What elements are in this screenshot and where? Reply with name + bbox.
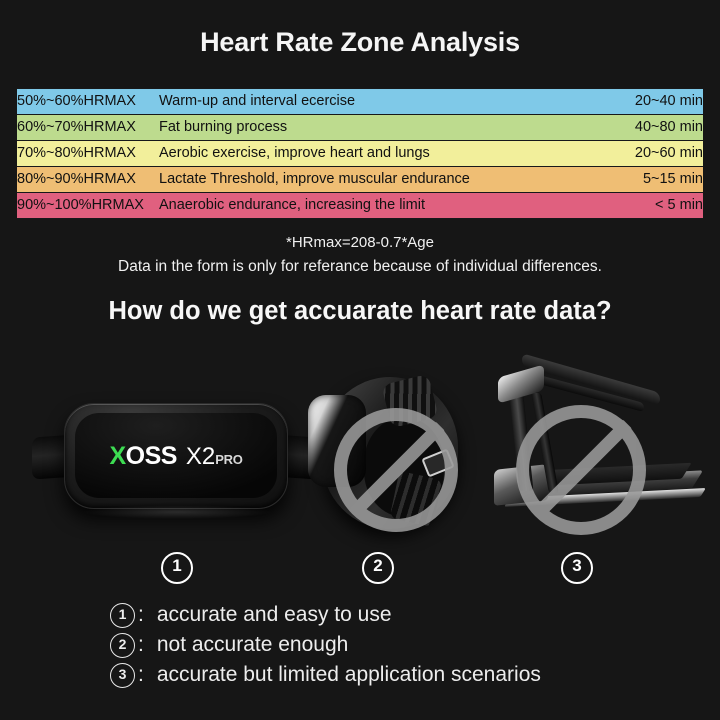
sensor-pod-shadow <box>82 505 272 519</box>
heart-rate-zone-table: 50%~60%HRMAX Warm-up and interval ecerci… <box>17 88 703 219</box>
logo-x-letter: X <box>109 442 125 471</box>
sensor-pod: XOSS X2PRO <box>64 403 288 509</box>
prohibited-icon-slash <box>530 419 631 520</box>
list-item: 3 : accurate but limited application sce… <box>110 660 670 690</box>
zone-duration: 20~60 min <box>585 141 703 167</box>
zone-range: 70%~80%HRMAX <box>17 141 159 167</box>
logo-model: X2 <box>186 443 215 471</box>
legend-list: 1 : accurate and easy to use 2 : not acc… <box>110 600 670 690</box>
zone-range: 60%~70%HRMAX <box>17 115 159 141</box>
product-marker-3: 3 <box>561 552 593 584</box>
table-row: 90%~100%HRMAX Anaerobic endurance, incre… <box>17 193 703 219</box>
zone-description: Lactate Threshold, improve muscular endu… <box>159 167 585 193</box>
zone-description: Fat burning process <box>159 115 585 141</box>
zone-range: 50%~60%HRMAX <box>17 89 159 115</box>
legend-text: accurate and easy to use <box>157 603 392 627</box>
zone-table-body: 50%~60%HRMAX Warm-up and interval ecerci… <box>17 89 703 219</box>
heart-rate-infographic: Heart Rate Zone Analysis 50%~60%HRMAX Wa… <box>0 0 720 720</box>
legend-marker-2: 2 <box>110 633 135 658</box>
page-title: Heart Rate Zone Analysis <box>0 27 720 58</box>
table-row: 50%~60%HRMAX Warm-up and interval ecerci… <box>17 89 703 115</box>
list-item: 2 : not accurate enough <box>110 630 670 660</box>
section-heading: How do we get accuarate heart rate data? <box>0 297 720 326</box>
table-row: 60%~70%HRMAX Fat burning process 40~80 m… <box>17 115 703 141</box>
zone-duration: 20~40 min <box>585 89 703 115</box>
hrmax-formula-note: *HRmax=208-0.7*Age <box>0 234 720 251</box>
logo-model-suffix: PRO <box>215 452 242 467</box>
zone-description: Warm-up and interval ecercise <box>159 89 585 115</box>
logo-oss-letters: OSS <box>126 442 177 471</box>
legend-marker-1: 1 <box>110 603 135 628</box>
legend-colon: : <box>138 633 144 657</box>
product-marker-1: 1 <box>161 552 193 584</box>
table-row: 80%~90%HRMAX Lactate Threshold, improve … <box>17 167 703 193</box>
legend-colon: : <box>138 603 144 627</box>
zone-duration: 40~80 min <box>585 115 703 141</box>
prohibited-icon <box>516 405 646 535</box>
xoss-logo: XOSS X2PRO <box>109 442 242 471</box>
legend-text: accurate but limited application scenari… <box>157 663 541 687</box>
list-item: 1 : accurate and easy to use <box>110 600 670 630</box>
disclaimer-note: Data in the form is only for referance b… <box>0 258 720 276</box>
legend-colon: : <box>138 663 144 687</box>
zone-duration: < 5 min <box>585 193 703 219</box>
product-comparison-row: XOSS X2PRO <box>0 355 720 545</box>
table-row: 70%~80%HRMAX Aerobic exercise, improve h… <box>17 141 703 167</box>
prohibited-icon-slash <box>348 422 445 519</box>
zone-range: 90%~100%HRMAX <box>17 193 159 219</box>
legend-text: not accurate enough <box>157 633 348 657</box>
zone-description: Anaerobic endurance, increasing the limi… <box>159 193 585 219</box>
zone-description: Aerobic exercise, improve heart and lung… <box>159 141 585 167</box>
prohibited-icon <box>334 408 458 532</box>
zone-range: 80%~90%HRMAX <box>17 167 159 193</box>
zone-duration: 5~15 min <box>585 167 703 193</box>
chest-strap-image: XOSS X2PRO <box>30 377 320 527</box>
legend-marker-3: 3 <box>110 663 135 688</box>
product-marker-2: 2 <box>362 552 394 584</box>
